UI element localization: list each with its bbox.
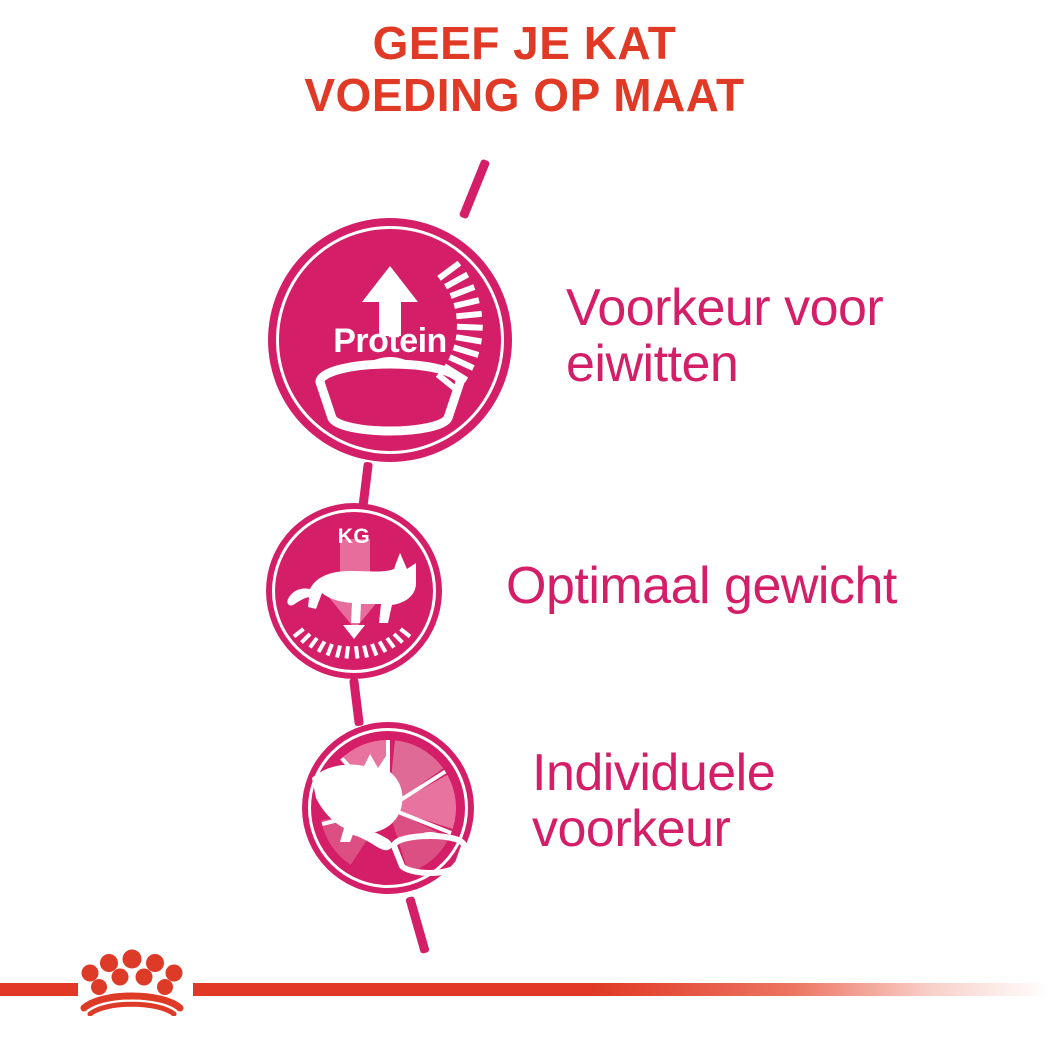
protein-icon-label: Protein: [268, 322, 512, 361]
feature-label-protein-line-1: Voorkeur voor: [566, 280, 1026, 336]
headline-line-1: GEEF JE KAT: [373, 17, 677, 69]
cat-eating-bowl-pie-icon: [302, 722, 474, 894]
footer-rule-right: [193, 983, 1049, 996]
feature-label-preference-line-1: Individuele: [532, 745, 992, 801]
feature-label-protein-line-2: eiwitten: [566, 336, 1026, 392]
footer-rule-left: [0, 983, 78, 996]
feature-label-weight-line-1: Optimaal gewicht: [506, 558, 1026, 614]
connector-dash-top: [459, 159, 491, 220]
feature-label-preference: Individuele voorkeur: [532, 745, 992, 857]
feature-icon-weight[interactable]: KG: [266, 503, 442, 679]
feature-icon-protein[interactable]: Protein: [268, 218, 512, 462]
connector-dash-bottom: [405, 896, 430, 954]
feature-label-weight: Optimaal gewicht: [506, 558, 1026, 614]
feature-label-protein: Voorkeur voor eiwitten: [566, 280, 1026, 392]
connector-dash-2-3: [349, 678, 364, 727]
feature-label-preference-line-2: voorkeur: [532, 801, 992, 857]
feature-icon-preference[interactable]: [302, 722, 474, 894]
crown-icon: [74, 944, 190, 1016]
page-title: GEEF JE KAT VOEDING OP MAAT: [0, 18, 1049, 121]
royal-canin-crown-logo: [74, 944, 190, 1016]
headline-line-2: VOEDING OP MAAT: [0, 70, 1049, 122]
kg-icon-label: KG: [266, 525, 442, 549]
poster-canvas: GEEF JE KAT VOEDING OP MAAT: [0, 0, 1049, 1049]
